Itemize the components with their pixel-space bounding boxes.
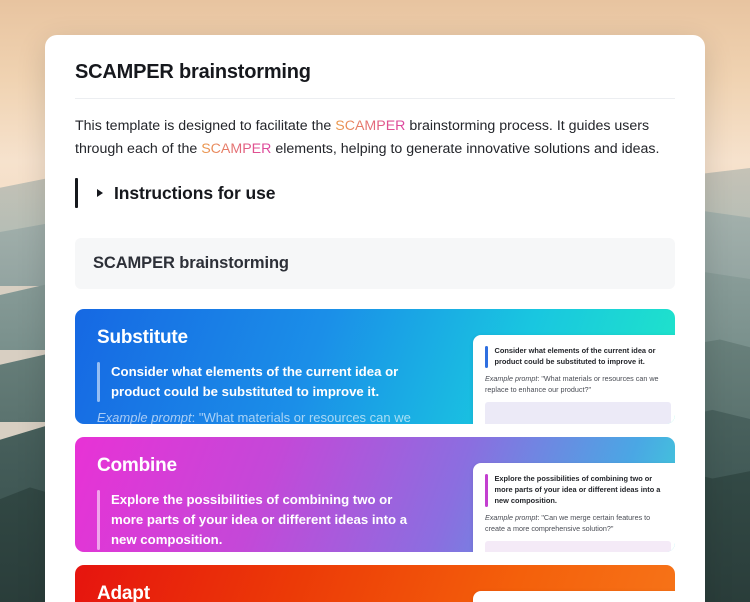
card-quote-bar: [97, 362, 100, 402]
intro-paragraph: This template is designed to facilitate …: [75, 115, 675, 161]
scamper-card-list: Substitute Consider what elements of the…: [75, 309, 675, 602]
preview-quote: Explore the possibilities of combining t…: [485, 474, 671, 507]
preview-quote-text: Explore the possibilities of combining t…: [495, 474, 672, 507]
card-preview-adapt[interactable]: Think about how you could adapt or borro…: [473, 591, 675, 602]
scamper-highlight-1: SCAMPER: [335, 118, 405, 134]
instructions-toggle[interactable]: Instructions for use: [75, 178, 675, 208]
preview-quote-bar: [485, 474, 488, 507]
section-band-title: SCAMPER brainstorming: [93, 254, 657, 273]
card-quote-bar: [97, 490, 100, 550]
scamper-card-adapt[interactable]: Adapt Think about how you could adapt or…: [75, 565, 675, 602]
scamper-card-combine[interactable]: Combine Explore the possibilities of com…: [75, 437, 675, 552]
preview-input-box[interactable]: [485, 541, 671, 552]
card-quote-text: Consider what elements of the current id…: [111, 362, 411, 402]
preview-prompt: Example prompt: "Can we merge certain fe…: [485, 513, 671, 534]
preview-quote-bar: [485, 346, 488, 368]
page-title: SCAMPER brainstorming: [75, 61, 675, 98]
scamper-card-substitute[interactable]: Substitute Consider what elements of the…: [75, 309, 675, 424]
card-quote-text: Explore the possibilities of combining t…: [111, 490, 411, 550]
intro-text-1: This template is designed to facilitate …: [75, 118, 335, 134]
document-panel: SCAMPER brainstorming This template is d…: [45, 35, 705, 602]
card-prompt-label: Example prompt: [97, 410, 192, 424]
triangle-right-icon[interactable]: [90, 189, 110, 197]
toggle-accent-bar: [75, 178, 78, 208]
preview-prompt-label: Example prompt: [485, 513, 537, 522]
card-prompt: Example prompt: "What materials or resou…: [97, 408, 417, 424]
scamper-highlight-2: SCAMPER: [201, 141, 271, 157]
preview-quote: Consider what elements of the current id…: [485, 346, 671, 368]
preview-input-box[interactable]: [485, 402, 671, 424]
toggle-label: Instructions for use: [114, 183, 275, 204]
section-band: SCAMPER brainstorming: [75, 238, 675, 289]
title-divider: [75, 98, 675, 99]
card-preview-combine[interactable]: Explore the possibilities of combining t…: [473, 463, 675, 552]
preview-prompt-label: Example prompt: [485, 374, 537, 383]
preview-prompt: Example prompt: "What materials or resou…: [485, 374, 671, 395]
card-preview-substitute[interactable]: Consider what elements of the current id…: [473, 335, 675, 424]
intro-text-3: elements, helping to generate innovative…: [271, 141, 659, 157]
preview-quote-text: Consider what elements of the current id…: [495, 346, 672, 368]
